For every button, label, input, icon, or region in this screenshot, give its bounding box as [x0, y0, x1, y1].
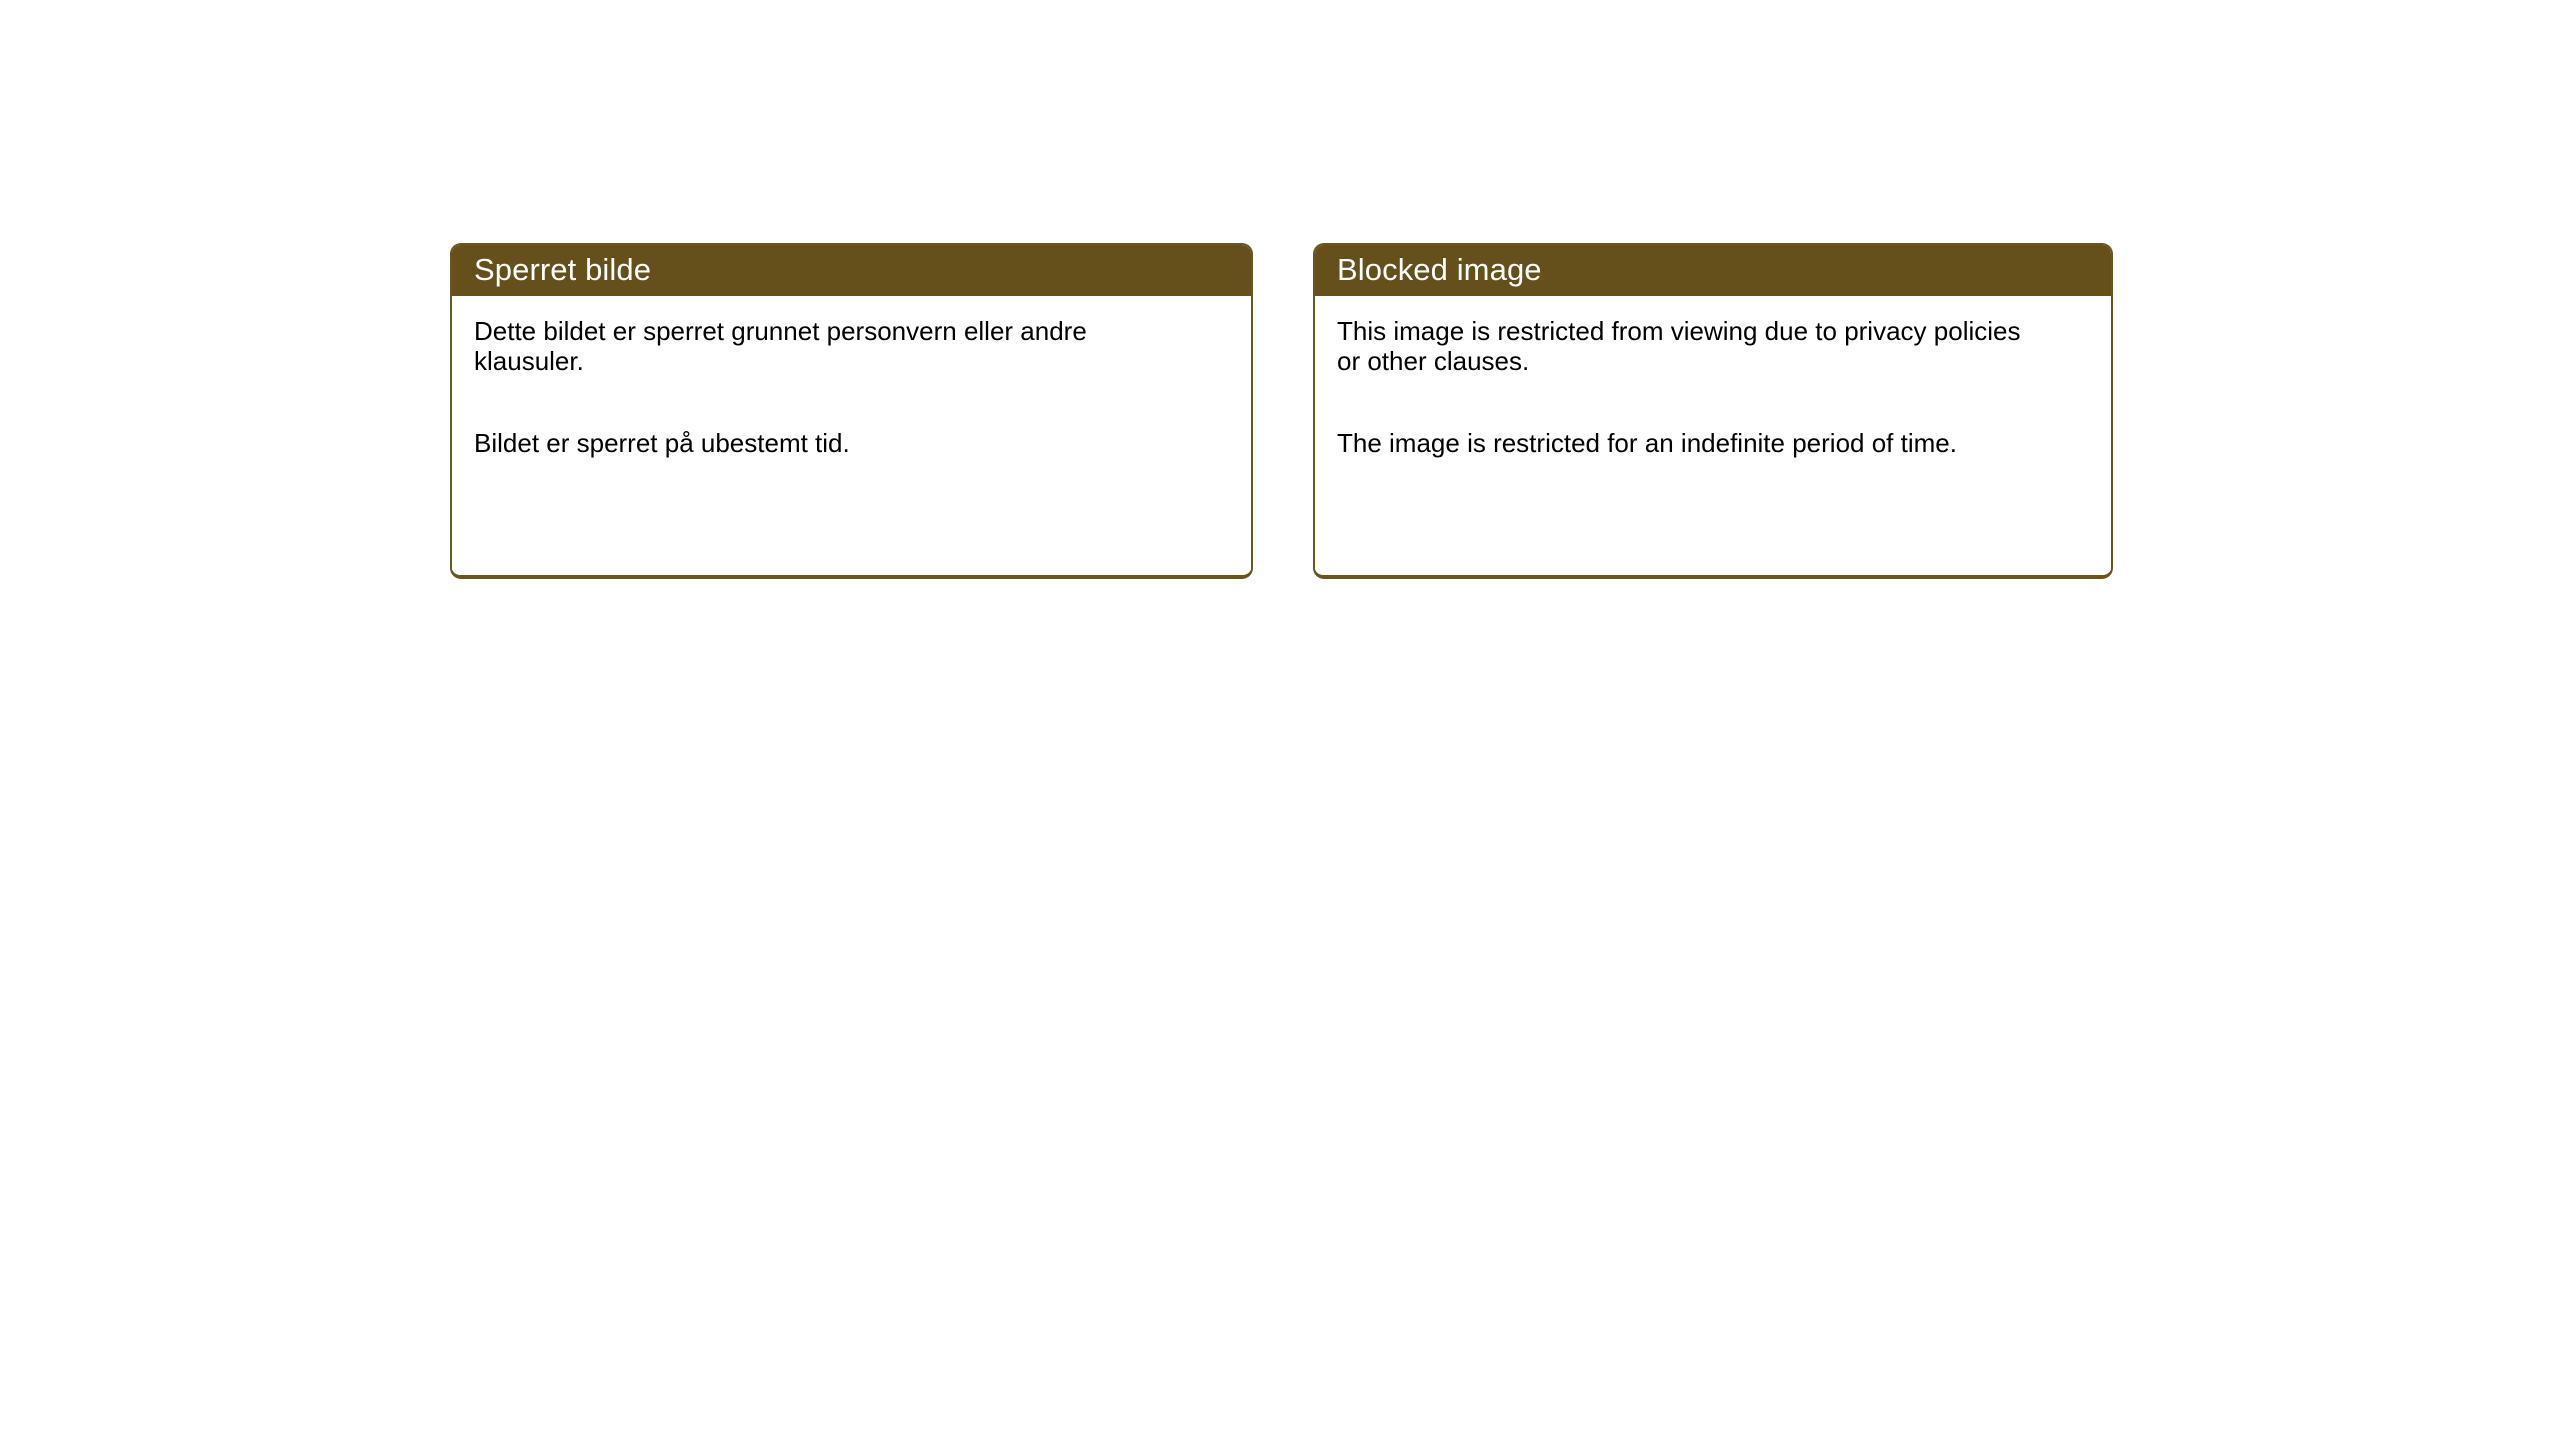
notice-paragraph-reason-norwegian: Dette bildet er sperret grunnet personve… [474, 316, 1174, 376]
notice-body-english: This image is restricted from viewing du… [1315, 296, 2111, 575]
notice-title-norwegian: Sperret bilde [474, 254, 1251, 285]
blocked-image-notice-english: Blocked image This image is restricted f… [1313, 243, 2113, 579]
notice-paragraph-reason-english: This image is restricted from viewing du… [1337, 316, 2037, 376]
page-canvas: Sperret bilde Dette bildet er sperret gr… [0, 0, 2560, 1440]
blocked-image-notice-norwegian: Sperret bilde Dette bildet er sperret gr… [450, 243, 1253, 579]
blocked-image-notice-group: Sperret bilde Dette bildet er sperret gr… [450, 243, 2113, 579]
notice-body-norwegian: Dette bildet er sperret grunnet personve… [452, 296, 1251, 575]
notice-title-english: Blocked image [1337, 254, 2111, 285]
notice-header-norwegian: Sperret bilde [452, 245, 1251, 296]
notice-paragraph-duration-english: The image is restricted for an indefinit… [1337, 428, 2037, 458]
notice-header-english: Blocked image [1315, 245, 2111, 296]
notice-paragraph-duration-norwegian: Bildet er sperret på ubestemt tid. [474, 428, 1174, 458]
